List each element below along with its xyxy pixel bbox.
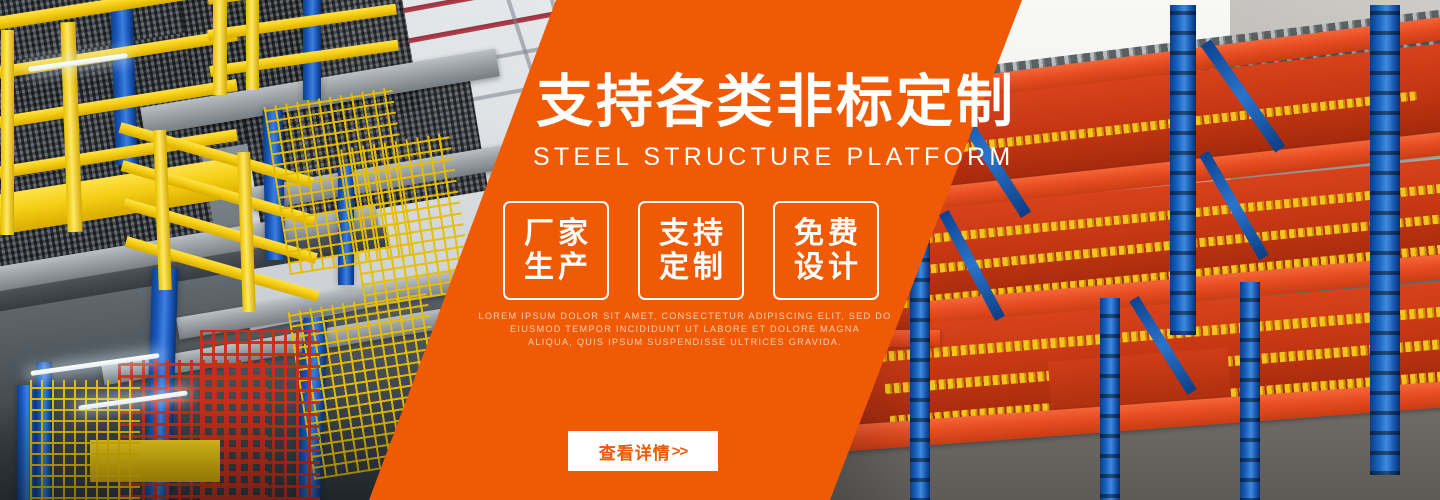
description-line-3: ALIQUA, QUIS IPSUM SUSPENDISSE ULTRICES … — [470, 336, 900, 349]
description-line-1: LOREM IPSUM DOLOR SIT AMET, CONSECTETUR … — [470, 310, 900, 323]
badge-line-1: 免费 — [790, 217, 862, 251]
view-details-label: 查看详情 — [599, 439, 671, 464]
feature-badge-manufacturer[interactable]: 厂家 生产 — [503, 201, 609, 300]
badge-line-1: 厂家 — [520, 217, 592, 251]
badge-line-2: 设计 — [790, 251, 862, 285]
badge-line-2: 生产 — [520, 251, 592, 285]
promo-banner: 支持各类非标定制 STEEL STRUCTURE PLATFORM 厂家 生产 … — [0, 0, 1440, 500]
badge-line-1: 支持 — [655, 217, 727, 251]
feature-badge-free-design[interactable]: 免费 设计 — [773, 201, 879, 300]
chevron-right-icon: >> — [672, 443, 688, 460]
banner-content: 支持各类非标定制 STEEL STRUCTURE PLATFORM 厂家 生产 … — [0, 0, 1440, 500]
page-title: 支持各类非标定制 — [536, 74, 1016, 131]
feature-badge-customization[interactable]: 支持 定制 — [638, 201, 744, 300]
badge-line-2: 定制 — [655, 251, 727, 285]
view-details-button[interactable]: 查看详情 >> — [568, 431, 718, 471]
description-text: LOREM IPSUM DOLOR SIT AMET, CONSECTETUR … — [470, 310, 900, 350]
feature-badge-list: 厂家 生产 支持 定制 免费 设计 — [503, 201, 879, 300]
description-line-2: EIUSMOD TEMPOR INCIDIDUNT UT LABORE ET D… — [470, 323, 900, 336]
page-subtitle: STEEL STRUCTURE PLATFORM — [533, 143, 1014, 172]
